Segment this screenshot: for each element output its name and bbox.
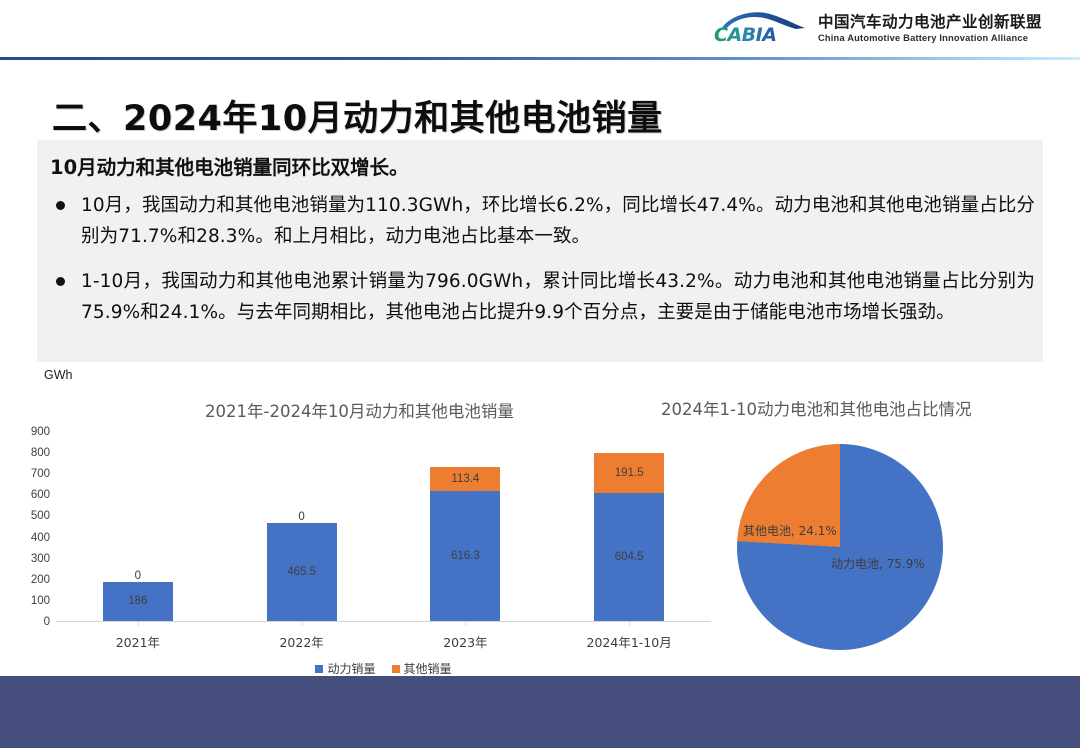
bar-group[interactable]: 1860	[103, 582, 173, 621]
bar-value-label: 604.5	[615, 551, 644, 563]
bullet-list: 10月，我国动力和其他电池销量为110.3GWh，环比增长6.2%，同比增长47…	[50, 190, 1035, 342]
legend-swatch-icon	[315, 665, 323, 673]
y-axis-tick-label: 200	[31, 574, 50, 586]
page-title: 二、2024年10月动力和其他电池销量	[52, 90, 663, 141]
y-axis-tick-label: 100	[31, 595, 50, 607]
bar-value-label: 0	[103, 570, 173, 582]
bullet-text: 10月，我国动力和其他电池销量为110.3GWh，环比增长6.2%，同比增长47…	[81, 195, 1035, 247]
pie-slice-label-power: 动力电池, 75.9%	[831, 555, 925, 572]
cabia-car-logo-icon: CABIA	[708, 8, 808, 48]
bar-segment-power[interactable]: 616.3	[430, 491, 500, 621]
bullet-dot-icon	[56, 277, 65, 286]
bar-segment-power[interactable]: 465.5	[267, 523, 337, 621]
footer-band	[0, 676, 1080, 748]
legend-item[interactable]: 动力销量	[315, 660, 375, 677]
svg-text:CABIA: CABIA	[714, 24, 776, 46]
legend-label: 动力销量	[327, 660, 375, 677]
bar-value-label: 0	[267, 511, 337, 523]
bar-value-label: 616.3	[451, 550, 480, 562]
x-axis-category-label: 2022年	[242, 632, 362, 651]
y-axis-tick-label: 900	[31, 426, 50, 438]
y-axis-tick-label: 0	[44, 616, 50, 628]
bar-group[interactable]: 465.50	[267, 523, 337, 621]
x-axis-tick	[465, 622, 466, 626]
summary-panel: 10月动力和其他电池销量同环比双增长。 10月，我国动力和其他电池销量为110.…	[37, 140, 1043, 362]
y-axis-tick-label: 800	[31, 447, 50, 459]
pie-chart-title: 2024年1-10动力电池和其他电池占比情况	[661, 396, 971, 420]
pie-slice-label-other: 其他电池, 24.1%	[743, 522, 837, 539]
bar-segment-other[interactable]: 191.5	[594, 453, 664, 493]
bullet-dot-icon	[56, 201, 65, 210]
bar-chart: 9008007006005004003002001000 18602021年46…	[14, 432, 714, 667]
pie-chart: 其他电池, 24.1% 动力电池, 75.9%	[737, 444, 943, 650]
legend-swatch-icon	[392, 665, 400, 673]
bar-segment-power[interactable]: 604.5	[594, 493, 664, 621]
y-axis-unit-label: GWh	[44, 368, 72, 382]
bar-segment-other[interactable]: 113.4	[430, 467, 500, 491]
brand-logo: CABIA 中国汽车动力电池产业创新联盟 China Automotive Ba…	[708, 8, 1042, 48]
x-axis-category-label: 2023年	[405, 632, 525, 651]
y-axis-tick-label: 300	[31, 553, 50, 565]
x-axis-line	[56, 621, 711, 622]
bar-chart-legend: 动力销量其他销量	[56, 660, 711, 677]
bar-value-label: 113.4	[451, 473, 479, 485]
x-axis-category-label: 2024年1-10月	[569, 632, 689, 651]
slide-header: CABIA 中国汽车动力电池产业创新联盟 China Automotive Ba…	[0, 0, 1080, 58]
y-axis-tick-label: 500	[31, 510, 50, 522]
y-axis-tick-label: 600	[31, 489, 50, 501]
y-axis-tick-label: 400	[31, 532, 50, 544]
list-item: 1-10月，我国动力和其他电池累计销量为796.0GWh，累计同比增长43.2%…	[50, 266, 1035, 328]
list-item: 10月，我国动力和其他电池销量为110.3GWh，环比增长6.2%，同比增长47…	[50, 190, 1035, 252]
brand-name-en: China Automotive Battery Innovation Alli…	[818, 34, 1042, 43]
x-axis-tick	[629, 622, 630, 626]
x-axis-tick	[138, 622, 139, 626]
header-divider	[0, 57, 1080, 60]
bar-chart-title: 2021年-2024年10月动力和其他电池销量	[205, 398, 514, 422]
y-axis-tick-label: 700	[31, 468, 50, 480]
bar-value-label: 186	[128, 595, 147, 607]
legend-label: 其他销量	[404, 660, 452, 677]
x-axis-tick	[302, 622, 303, 626]
bar-group[interactable]: 113.4616.3	[430, 467, 500, 621]
pie-disc	[737, 444, 943, 650]
bar-chart-y-axis: 9008007006005004003002001000	[14, 432, 56, 622]
bar-value-label: 191.5	[615, 467, 644, 479]
bar-value-label: 465.5	[287, 566, 316, 578]
bar-chart-plot-area: 18602021年465.502022年113.4616.32023年191.5…	[56, 432, 711, 622]
panel-heading: 10月动力和其他电池销量同环比双增长。	[50, 151, 409, 180]
bar-segment-power[interactable]: 186	[103, 582, 173, 621]
bullet-text: 1-10月，我国动力和其他电池累计销量为796.0GWh，累计同比增长43.2%…	[81, 271, 1035, 323]
bar-group[interactable]: 191.5604.5	[594, 453, 664, 621]
x-axis-category-label: 2021年	[78, 632, 198, 651]
brand-name-cn: 中国汽车动力电池产业创新联盟	[818, 15, 1042, 31]
legend-item[interactable]: 其他销量	[392, 660, 452, 677]
